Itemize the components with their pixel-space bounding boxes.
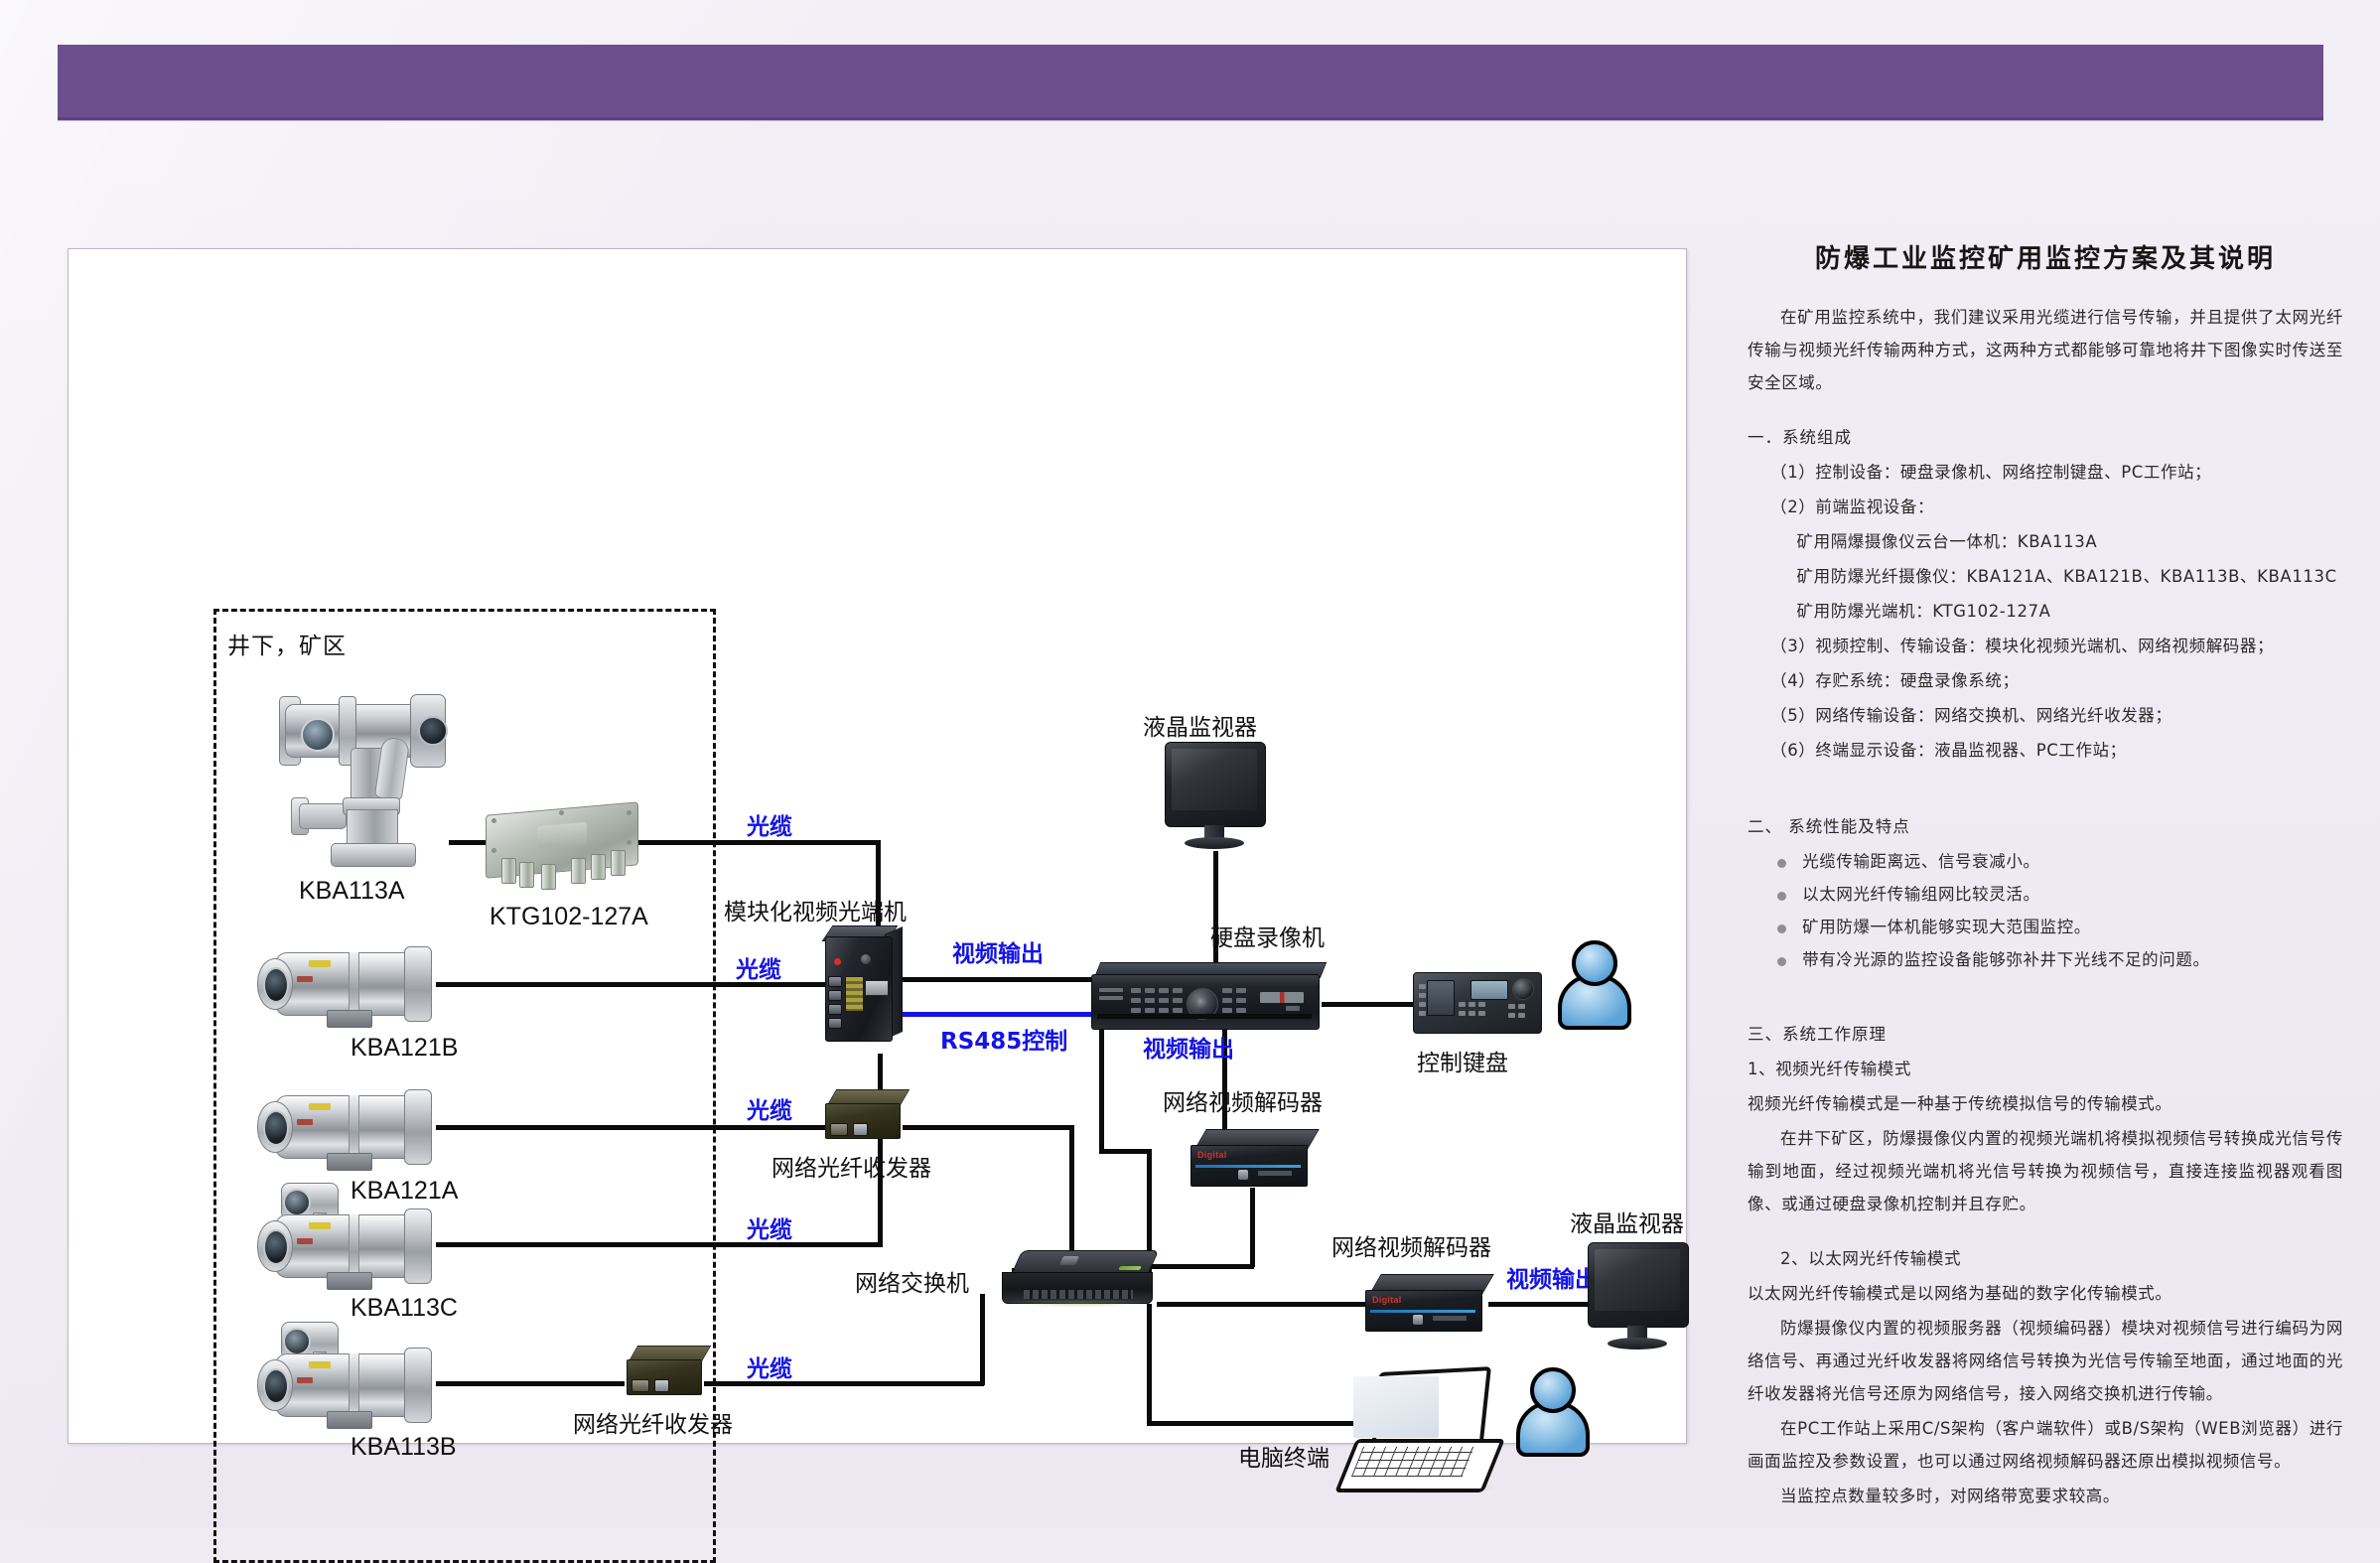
label-fiber-cable-3: 光缆 <box>747 1091 792 1125</box>
doc-mode1-heading: 1、视频光纤传输模式 <box>1748 1053 2343 1085</box>
doc-section2-heading: 二、 系统性能及特点 <box>1748 810 2343 843</box>
doc-mode2-heading: 2、以太网光纤传输模式 <box>1748 1242 2343 1275</box>
doc-section2-bullet-1: 光缆传输距离远、信号衰减小。 <box>1777 845 2343 878</box>
label-kba113a: KBA113A <box>299 877 405 906</box>
doc-section1-sub-1: 矿用隔爆摄像仪云台一体机：KBA113A <box>1748 525 2343 558</box>
wire-kba121a-to-riser <box>436 1125 883 1130</box>
doc-section1-item-3: （3）视频控制、传输设备：模块化视频光端机、网络视频解码器； <box>1748 630 2343 662</box>
doc-section1-item-5: （5）网络传输设备：网络交换机、网络光纤收发器； <box>1748 699 2343 732</box>
device-kba113c-camera[interactable] <box>257 1199 436 1308</box>
doc-intro: 在矿用监控系统中，我们建议采用光缆进行信号传输，并且提供了太网光纤传输与视频光纤… <box>1748 301 2343 399</box>
doc-section1-item-6: （6）终端显示设备：液晶监视器、PC工作站； <box>1748 734 2343 767</box>
label-kba121b: KBA121B <box>350 1034 458 1063</box>
label-dvr: 硬盘录像机 <box>1210 919 1325 952</box>
doc-section1-sub-3: 矿用防爆光端机：KTG102-127A <box>1748 595 2343 628</box>
label-rs485-control: RS485控制 <box>940 1022 1067 1056</box>
device-ktg102-127a-junction-box[interactable] <box>486 808 640 898</box>
doc-mode1-p1: 视频光纤传输模式是一种基于传统模拟信号的传输模式。 <box>1748 1087 2343 1120</box>
device-network-switch[interactable] <box>1002 1250 1161 1312</box>
wire-decoder1-to-switch <box>1147 1264 1254 1269</box>
label-video-output-3: 视频输出 <box>1506 1260 1598 1294</box>
doc-section1-item-4: （4）存贮系统：硬盘录像系统； <box>1748 664 2343 697</box>
wire-switch-down-laptop <box>1147 1304 1152 1425</box>
wire-dvr-to-bus <box>1099 1149 1151 1154</box>
label-network-fiber-transceiver-2: 网络光纤收发器 <box>573 1405 733 1439</box>
wire-dvr-to-keyboard <box>1322 1002 1413 1007</box>
doc-section2-bullets: 光缆传输距离远、信号衰减小。 以太网光纤传输组网比较灵活。 矿用防爆一体机能够实… <box>1748 845 2343 976</box>
label-pc-terminal: 电脑终端 <box>1238 1439 1330 1473</box>
label-fiber-cable-4: 光缆 <box>747 1210 792 1244</box>
label-network-fiber-transceiver-1: 网络光纤收发器 <box>771 1149 931 1183</box>
wire-kba113b-to-converter2 <box>436 1381 625 1386</box>
label-modular-video-optical-terminal: 模块化视频光端机 <box>724 893 907 926</box>
label-fiber-cable-1: 光缆 <box>747 807 792 841</box>
label-video-output-1: 视频输出 <box>952 934 1044 968</box>
doc-mode2-p4: 当监控点数量较多时，对网络带宽要求较高。 <box>1748 1480 2343 1512</box>
wire-decoder1-down <box>1250 1188 1255 1267</box>
device-lcd-monitor-2[interactable] <box>1588 1242 1697 1353</box>
avatar-operator-1 <box>1556 940 1627 1026</box>
label-network-video-decoder-1: 网络视频解码器 <box>1163 1083 1323 1117</box>
wire-converter2-up-to-switch <box>980 1294 985 1385</box>
device-modular-video-optical-terminal[interactable] <box>825 936 909 1046</box>
description-column: 防爆工业监控矿用监控方案及其说明 在矿用监控系统中，我们建议采用光缆进行信号传输… <box>1748 238 2343 1514</box>
device-network-video-decoder-1[interactable]: Digital <box>1190 1129 1316 1189</box>
wire-kba113c-to-riser <box>436 1242 883 1247</box>
wire-switch-to-laptop <box>1147 1421 1359 1426</box>
doc-section2-bullet-2: 以太网光纤传输组网比较灵活。 <box>1777 878 2343 911</box>
device-control-keyboard[interactable] <box>1413 966 1546 1038</box>
device-kba113a-ptz-camera[interactable] <box>279 686 458 870</box>
header-banner <box>58 45 2323 120</box>
doc-section1-item-1: （1）控制设备：硬盘录像机、网络控制键盘、PC工作站； <box>1748 456 2343 489</box>
label-kba113c: KBA113C <box>350 1294 458 1323</box>
device-kba121b-camera[interactable] <box>257 936 436 1032</box>
label-video-output-2: 视频输出 <box>1143 1030 1234 1064</box>
device-pc-terminal-laptop[interactable] <box>1345 1369 1504 1498</box>
label-network-video-decoder-2: 网络视频解码器 <box>1331 1228 1491 1262</box>
device-kba113b-camera[interactable] <box>257 1338 436 1447</box>
device-network-fiber-transceiver-2[interactable] <box>627 1346 710 1397</box>
label-lcd-monitor-1: 液晶监视器 <box>1143 708 1257 742</box>
mine-zone-label: 井下，矿区 <box>227 627 347 660</box>
label-control-keyboard: 控制键盘 <box>1417 1044 1508 1077</box>
doc-mode2-p3: 在PC工作站上采用C/S架构（客户端软件）或B/S架构（WEB浏览器）进行画面监… <box>1748 1412 2343 1478</box>
doc-section2-bullet-3: 矿用防爆一体机能够实现大范围监控。 <box>1777 911 2343 943</box>
label-fiber-cable-5: 光缆 <box>747 1350 792 1383</box>
label-kba113b: KBA113B <box>350 1433 457 1462</box>
avatar-operator-2 <box>1514 1367 1586 1453</box>
device-kba121a-camera[interactable] <box>257 1079 436 1175</box>
label-lcd-monitor-2: 液晶监视器 <box>1570 1205 1684 1238</box>
wire-converter1-out <box>903 1125 1073 1130</box>
label-ktg102-127a: KTG102-127A <box>490 903 648 931</box>
doc-section1-item-2: （2）前端监视设备： <box>1748 491 2343 523</box>
wire-dvr-to-monitor <box>1213 851 1218 976</box>
wire-dvr-down-left <box>1099 1030 1104 1153</box>
doc-mode1-p2: 在井下矿区，防爆摄像仪内置的视频光端机将模拟视频信号转换成光信号传输到地面，经过… <box>1748 1122 2343 1220</box>
diagram-panel: 井下，矿区 KBA1 <box>68 248 1687 1444</box>
doc-mode2-p1: 以太网光纤传输模式是以网络为基础的数字化传输模式。 <box>1748 1277 2343 1310</box>
doc-section3-heading: 三、系统工作原理 <box>1748 1018 2343 1051</box>
label-fiber-cable-2: 光缆 <box>736 950 781 984</box>
doc-section2-bullet-4: 带有冷光源的监控设备能够弥补井下光线不足的问题。 <box>1777 943 2343 976</box>
doc-title: 防爆工业监控矿用监控方案及其说明 <box>1748 238 2343 275</box>
device-network-video-decoder-2[interactable]: Digital <box>1365 1274 1490 1334</box>
device-dvr-hard-disk-recorder[interactable] <box>1091 962 1330 1032</box>
device-lcd-monitor-1[interactable] <box>1165 742 1274 853</box>
doc-mode2-p2: 防爆摄像仪内置的视频服务器（视频编码器）模块对视频信号进行编码为网络信号、再通过… <box>1748 1312 2343 1410</box>
doc-section1-sub-2: 矿用防爆光纤摄像仪：KBA121A、KBA121B、KBA113B、KBA113… <box>1748 560 2343 593</box>
device-network-fiber-transceiver-1[interactable] <box>825 1089 909 1141</box>
label-network-switch: 网络交换机 <box>855 1264 969 1298</box>
doc-section1-heading: 一．系统组成 <box>1748 421 2343 454</box>
